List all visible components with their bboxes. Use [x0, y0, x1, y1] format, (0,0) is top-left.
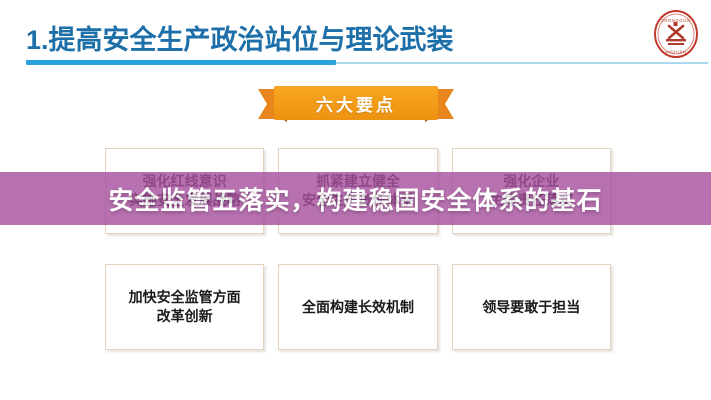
point-box-4-line-1: 加快安全监管方面	[129, 288, 241, 307]
point-box-5-line-1: 全面构建长效机制	[302, 298, 414, 317]
red-circular-seal-icon: ZHONGGUO ANQUAN	[651, 8, 701, 60]
ribbon-body: 六大要点	[274, 86, 438, 120]
point-box-4-line-2: 改革创新	[157, 307, 213, 326]
ribbon-label: 六大要点	[316, 91, 396, 116]
point-box-6-line-1: 领导要敢于担当	[482, 298, 580, 317]
point-box-6: 领导要敢于担当	[452, 264, 611, 350]
point-box-4: 加快安全监管方面 改革创新	[105, 264, 264, 350]
caption-text: 安全监管五落实，构建稳固安全体系的基石	[108, 181, 602, 217]
slide-canvas: 1.提高安全生产政治站位与理论武装 ZHONGGUO ANQUAN 六大要点	[0, 0, 711, 400]
caption-overlay-band: 安全监管五落实，构建稳固安全体系的基石	[0, 172, 711, 225]
page-title: 1.提高安全生产政治站位与理论武装	[26, 18, 454, 57]
point-box-5: 全面构建长效机制	[278, 264, 437, 350]
svg-text:ANQUAN: ANQUAN	[666, 49, 687, 54]
title-underline-accent	[26, 60, 336, 65]
six-points-ribbon: 六大要点	[258, 86, 454, 123]
